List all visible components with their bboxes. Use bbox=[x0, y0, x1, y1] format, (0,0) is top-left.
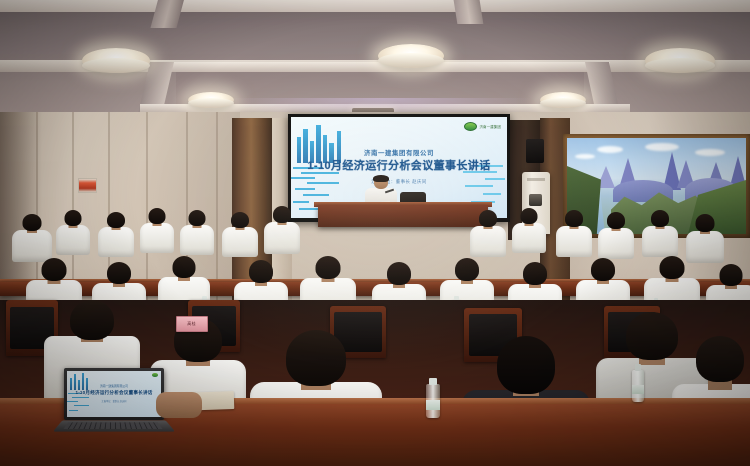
laptop-slide-subtitle: 汇报单位：董事长 赵庆同 bbox=[67, 399, 161, 403]
conference-room-photo: 济南一建集团 济南一建集团有限公司 1-10月经济运行分析会议董事长讲话 汇报单… bbox=[0, 0, 750, 466]
ceiling-light-icon bbox=[82, 48, 150, 73]
laptop[interactable]: 济南一建集团有限公司 1-10月经济运行分析会议董事长讲话 汇报单位：董事长 赵… bbox=[58, 368, 168, 440]
slide-main-title: 1-10月经济运行分析会议董事长讲话 bbox=[291, 160, 507, 173]
ceiling-light-icon bbox=[188, 92, 234, 108]
company-logo-icon bbox=[152, 373, 158, 377]
laptop-keyboard[interactable] bbox=[64, 422, 163, 429]
ceiling-coffer-top bbox=[0, 0, 750, 12]
name-placard-label: 高桂 bbox=[188, 321, 197, 327]
slide-company-line: 济南一建集团有限公司 bbox=[291, 148, 507, 157]
ceiling-light-icon bbox=[378, 44, 444, 68]
company-logo-icon: 济南一建集团 bbox=[464, 122, 501, 131]
slide-subtitle: 汇报单位：董事长 赵庆同 bbox=[291, 179, 507, 185]
name-placard: 高桂 bbox=[176, 316, 208, 332]
water-bottle bbox=[632, 370, 644, 402]
laptop-slide-title: 1-10月经济运行分析会议董事长讲话 bbox=[67, 390, 161, 396]
laptop-slide-company: 济南一建集团有限公司 bbox=[67, 384, 161, 388]
ceiling-light-icon bbox=[540, 92, 586, 108]
company-logo-label: 济南一建集团 bbox=[479, 124, 501, 129]
wall-speaker bbox=[526, 139, 544, 163]
ceiling-light-icon bbox=[645, 48, 715, 73]
laptop-lid: 济南一建集团有限公司 1-10月经济运行分析会议董事长讲话 汇报单位：董事长 赵… bbox=[64, 368, 164, 420]
ceiling-beam bbox=[150, 0, 185, 28]
water-bottle bbox=[426, 384, 440, 418]
hand bbox=[156, 392, 202, 418]
ceiling-beam bbox=[453, 0, 484, 24]
fire-alarm-sign bbox=[78, 178, 97, 193]
laptop-screen: 济南一建集团有限公司 1-10月经济运行分析会议董事长讲话 汇报单位：董事长 赵… bbox=[67, 371, 161, 417]
